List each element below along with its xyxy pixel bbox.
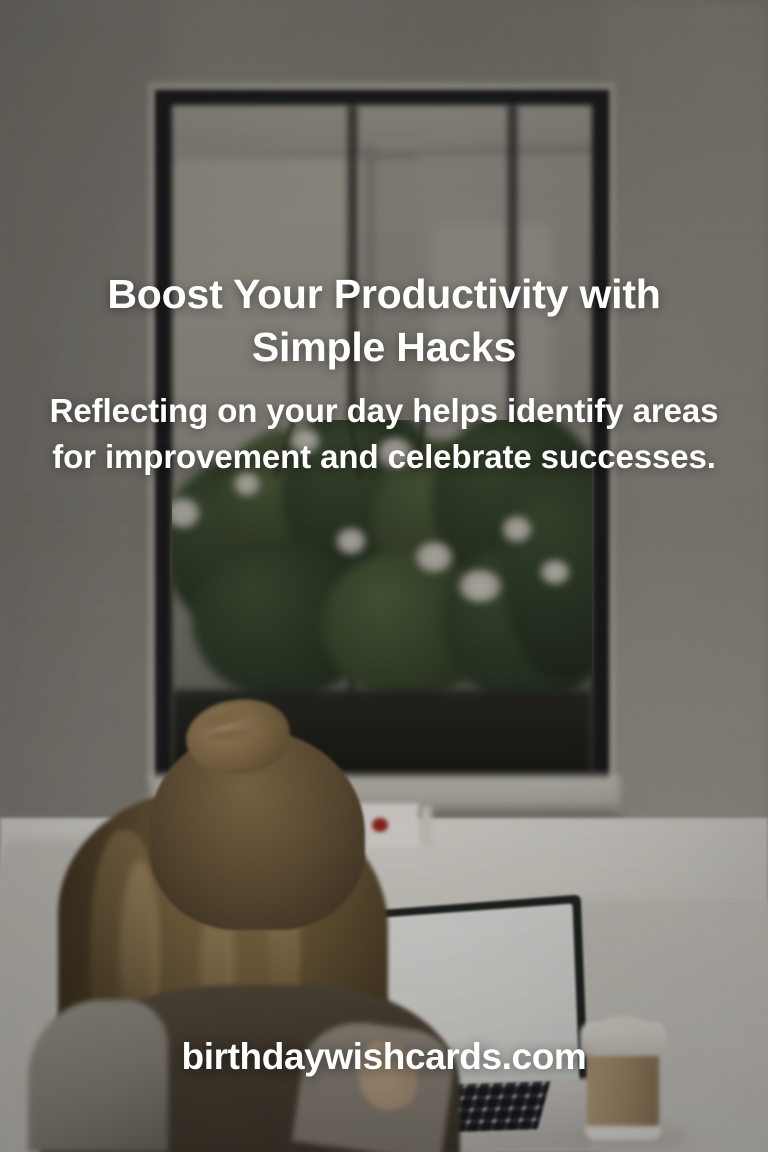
text-overlay: Boost Your Productivity with Simple Hack… [0,0,768,1152]
page-subtitle: Reflecting on your day helps identify ar… [48,388,720,479]
page-title: Boost Your Productivity with Simple Hack… [38,268,730,375]
footer-website-url: birthdaywishcards.com [0,1036,768,1078]
social-quote-card: Boost Your Productivity with Simple Hack… [0,0,768,1152]
